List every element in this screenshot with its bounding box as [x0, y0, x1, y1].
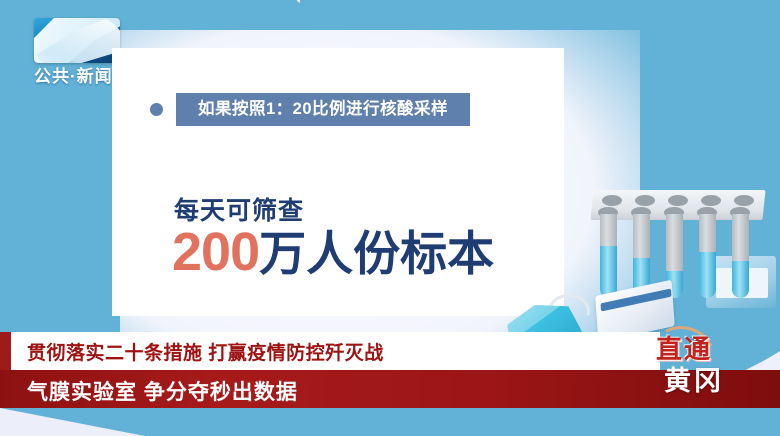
headline-band: 如果按照1：20比例进行核酸采样 — [176, 93, 470, 126]
tube-liquid — [732, 261, 749, 298]
broadcast-graphic-frame: 公共·新闻 如果按照1：20比例进行核酸采样 每天可筛查 200万人份标本 — [0, 0, 780, 436]
rack-hole — [701, 195, 721, 206]
bottom-pale-triangle — [0, 408, 145, 436]
figure-unit: 万人份标本 — [259, 227, 494, 280]
test-tube — [732, 214, 749, 298]
headline-banner-text: 气膜实验室 争分夺秒出数据 — [27, 376, 298, 406]
test-tube — [699, 214, 716, 298]
program-logo-line1: 直通 — [656, 336, 712, 362]
rack-hole — [734, 195, 754, 206]
figure-number: 200 — [172, 222, 259, 282]
rack-hole — [668, 195, 688, 206]
rack-hole — [635, 195, 655, 206]
broadcaster-logo-icon — [34, 18, 120, 63]
slogan-text: 贯彻落实二十条措施 打赢疫情防控歼灭战 — [27, 338, 384, 365]
bullet-dot-icon — [150, 103, 163, 116]
tube-liquid — [600, 246, 617, 298]
headline-row: 如果按照1：20比例进行核酸采样 — [150, 93, 470, 126]
rack-hole — [602, 195, 622, 206]
slogan-accent-bar — [0, 332, 11, 370]
broadcaster-caption: 公共·新闻 — [34, 62, 113, 87]
slogan-banner: 贯彻落实二十条措施 打赢疫情防控歼灭战 — [0, 332, 660, 370]
content-card: 如果按照1：20比例进行核酸采样 每天可筛查 200万人份标本 — [112, 48, 564, 316]
test-tube — [600, 214, 617, 298]
program-logo-line2: 黄冈 — [664, 368, 724, 395]
program-logo: 直通 黄冈 — [650, 336, 770, 412]
tube-liquid — [699, 252, 716, 298]
figure-line: 200万人份标本 — [172, 225, 494, 279]
